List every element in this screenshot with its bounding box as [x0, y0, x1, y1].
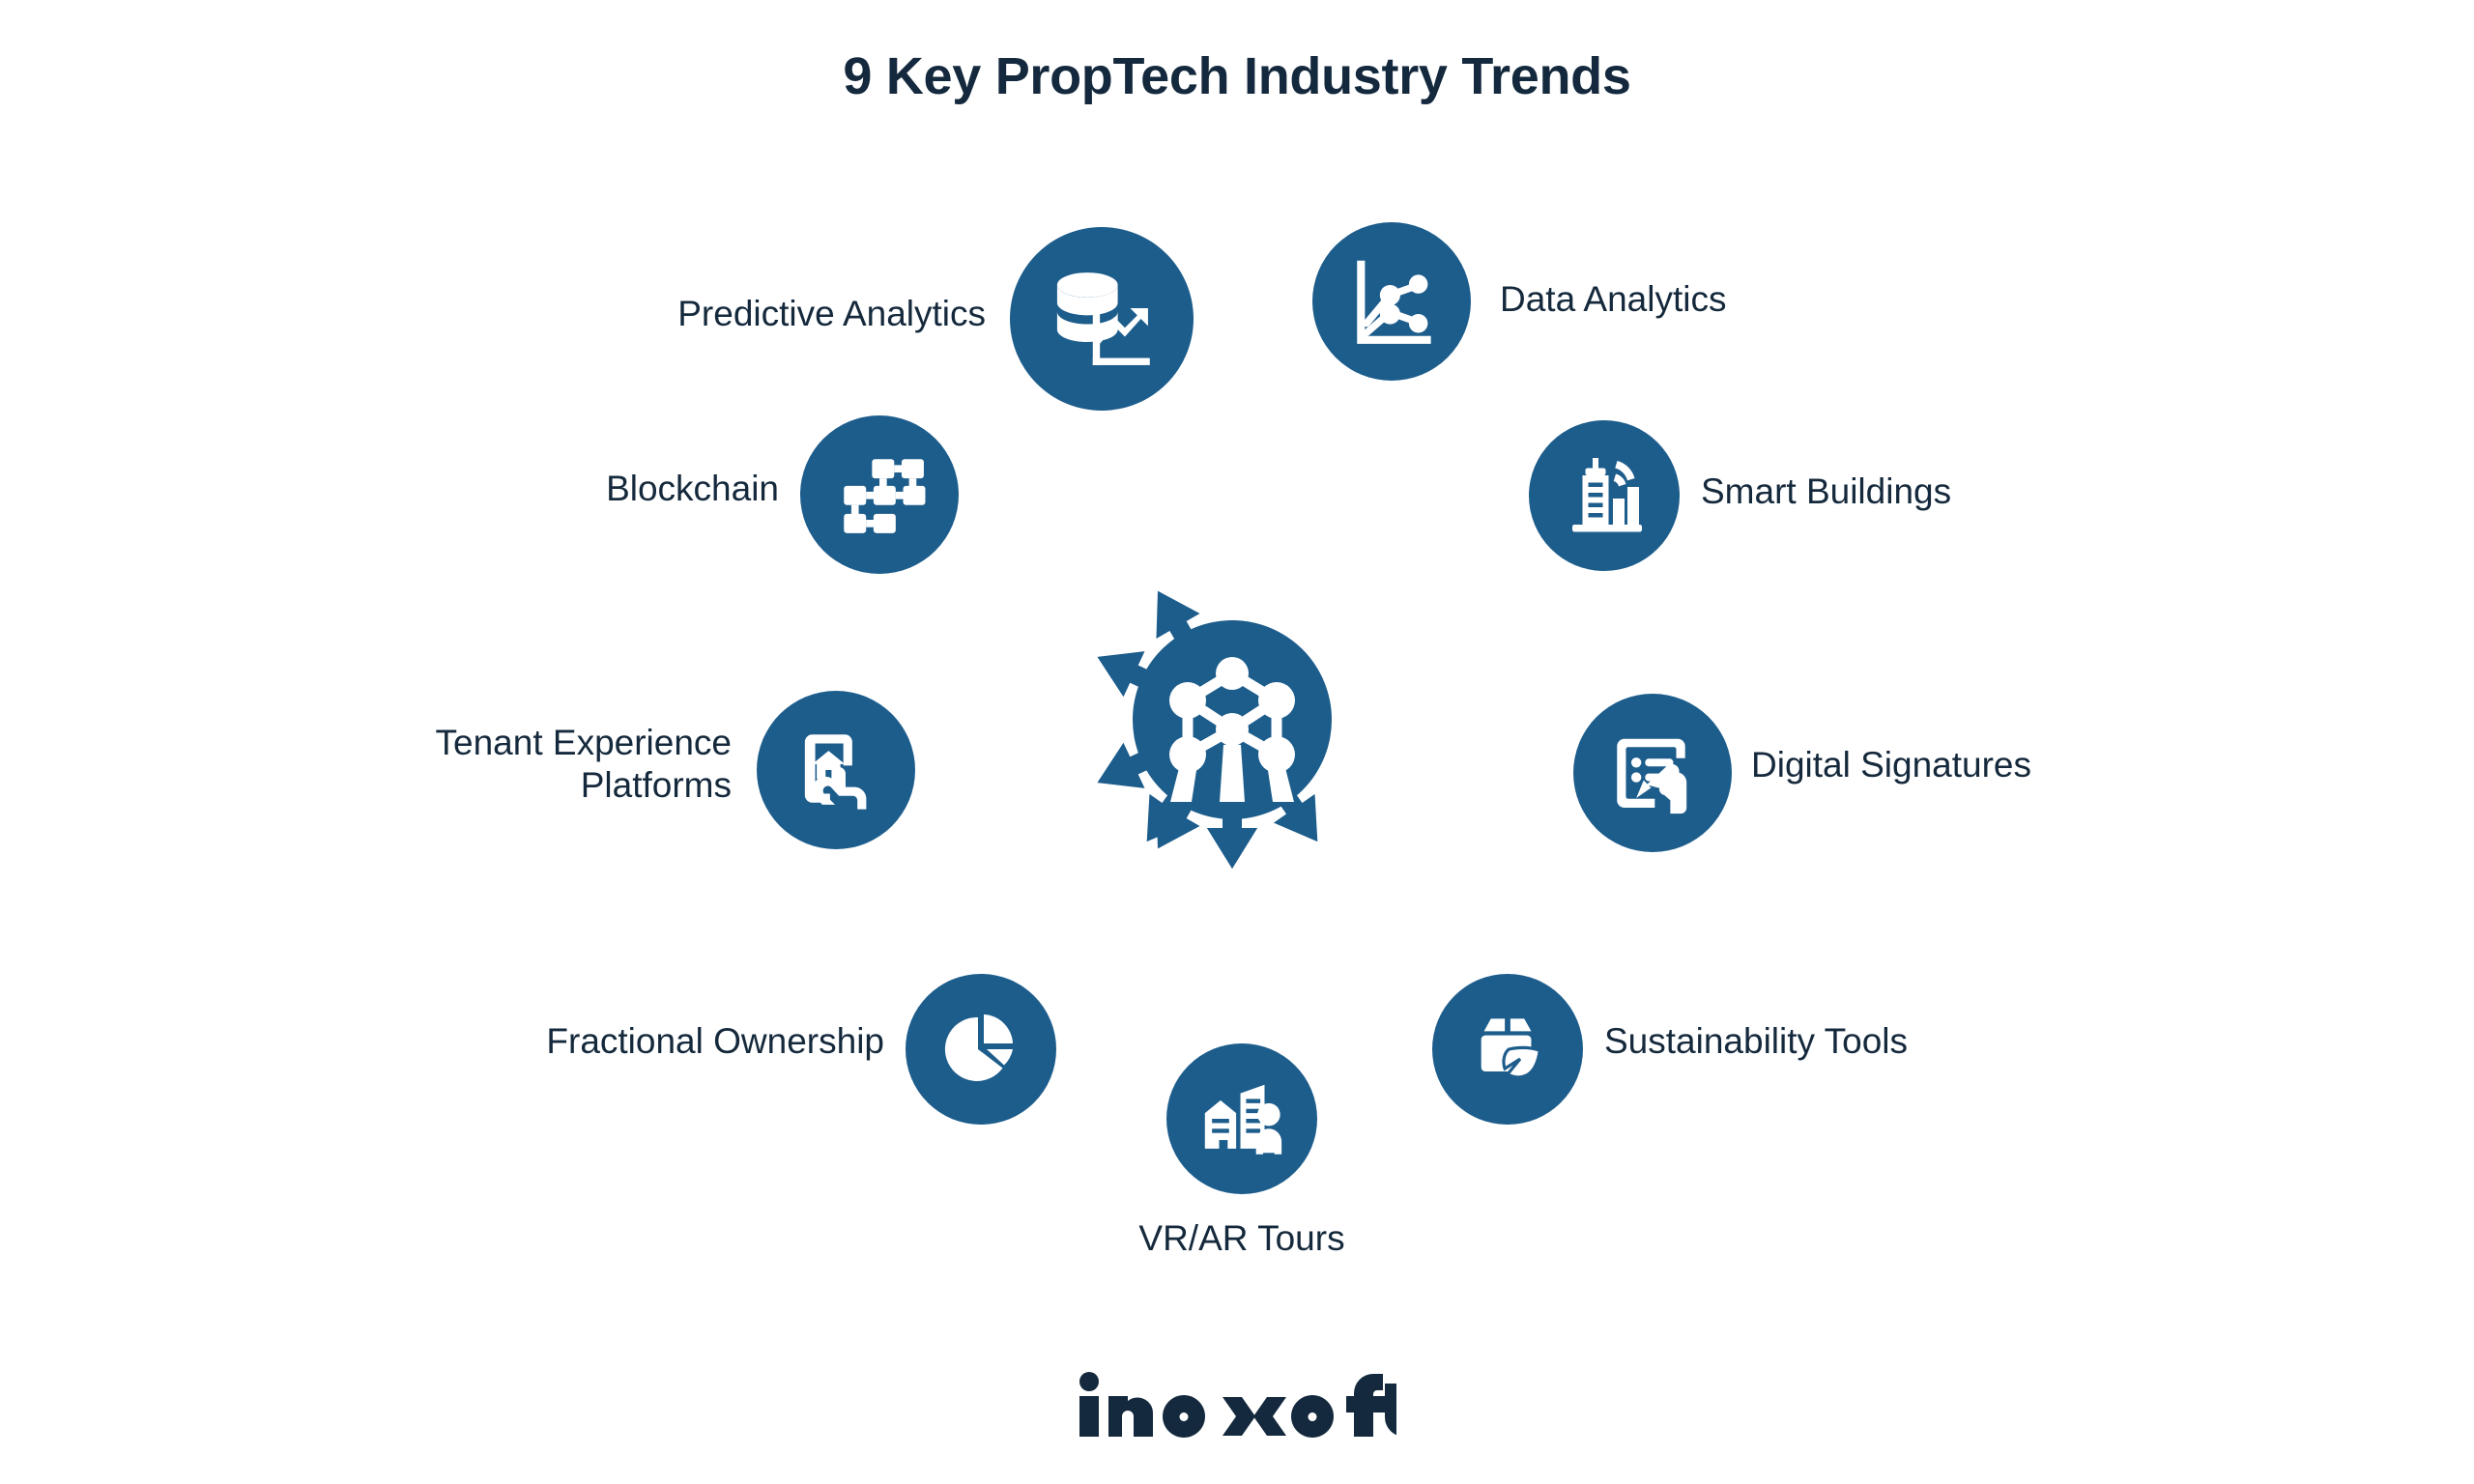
document-signing-hand-icon [1605, 726, 1700, 820]
tenant-experience-label: Tenant Experience Platforms [229, 722, 732, 806]
digital-signatures-label: Digital Signatures [1751, 744, 2254, 786]
building-wifi-icon [1558, 449, 1651, 542]
database-chart-icon [1045, 262, 1159, 376]
central-hub [1078, 565, 1387, 874]
predictive-analytics-label: Predictive Analytics [483, 293, 986, 335]
phone-house-touch-icon [789, 723, 883, 817]
inoxsoft-logo [0, 1372, 2474, 1440]
blockchain-circle[interactable] [800, 415, 959, 574]
sustainability-tools-circle[interactable] [1432, 974, 1583, 1125]
smart-buildings-circle[interactable] [1529, 420, 1680, 571]
fractional-ownership-label: Fractional Ownership [343, 1020, 884, 1063]
block-network-icon [832, 447, 927, 542]
sustainability-tools-label: Sustainability Tools [1604, 1020, 2145, 1063]
data-analytics-circle[interactable] [1312, 222, 1471, 381]
smart-buildings-label: Smart Buildings [1701, 471, 2203, 513]
buildings-person-icon [1196, 1073, 1287, 1164]
vr-ar-tours-circle[interactable] [1166, 1043, 1317, 1194]
box-leaf-icon [1463, 1005, 1552, 1094]
digital-signatures-circle[interactable] [1573, 694, 1732, 852]
data-analytics-label: Data Analytics [1500, 278, 2002, 321]
pie-chart-icon [935, 1003, 1027, 1096]
scatter-plot-icon [1341, 251, 1442, 352]
tenant-experience-circle[interactable] [757, 691, 915, 849]
predictive-analytics-circle[interactable] [1010, 227, 1194, 411]
radial-diagram: Predictive Analytics [0, 135, 2474, 1324]
page-title: 9 Key PropTech Industry Trends [0, 46, 2474, 106]
blockchain-label: Blockchain [334, 468, 779, 510]
vr-ar-tours-label: VR/AR Tours [991, 1217, 1493, 1260]
fractional-ownership-circle[interactable] [906, 974, 1056, 1125]
